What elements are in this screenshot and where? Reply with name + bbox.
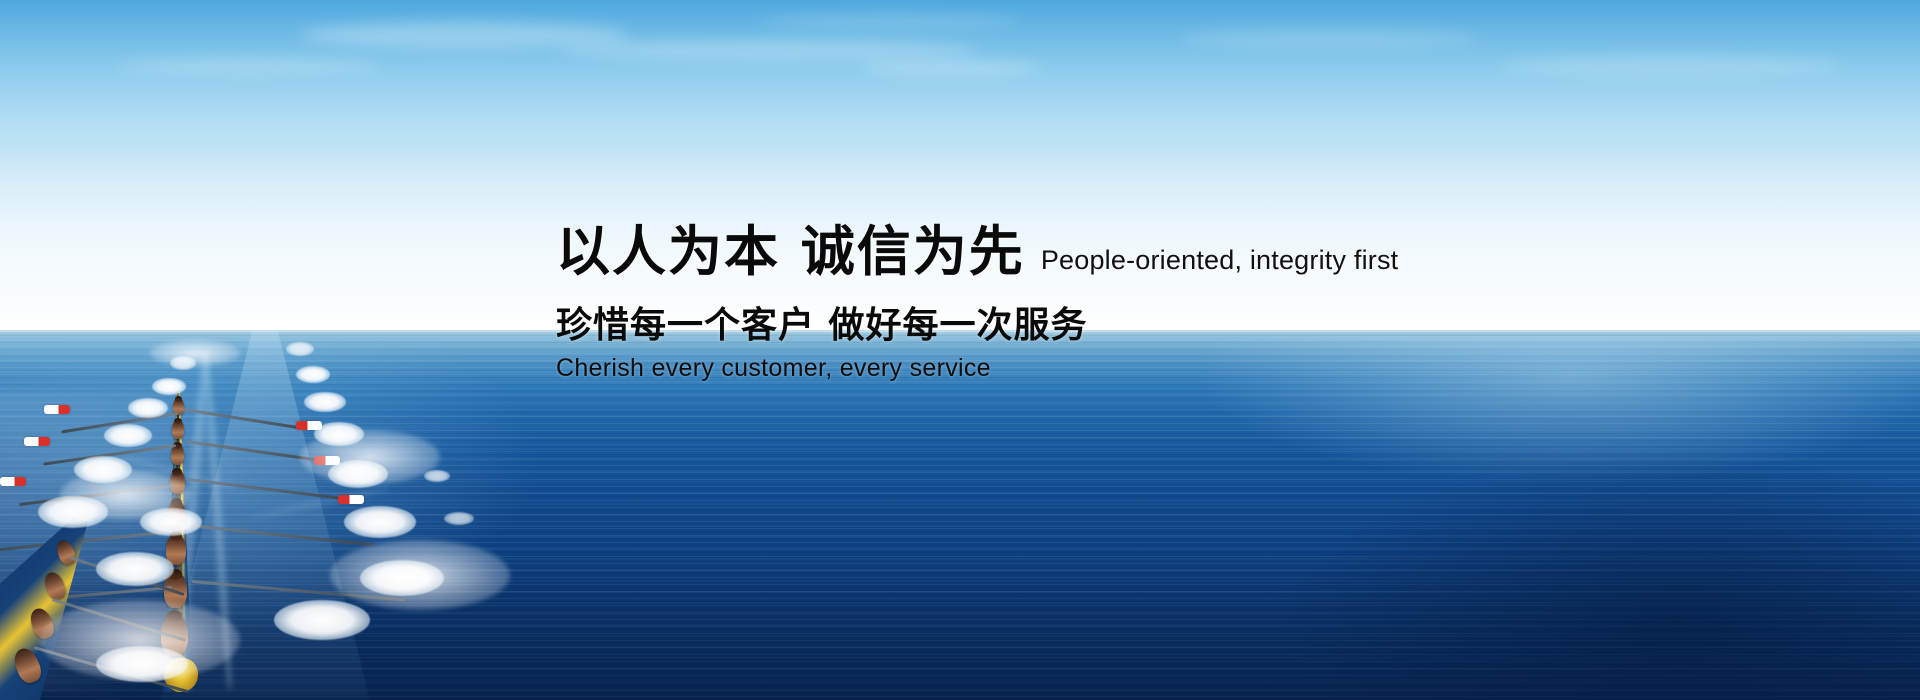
oar-blade-left (24, 437, 50, 446)
rower-head (174, 418, 182, 424)
splash (96, 552, 174, 586)
headline-chinese: 以人为本 诚信为先 (556, 222, 1025, 282)
oar-blade-left (0, 477, 26, 486)
foam-patch (330, 540, 510, 610)
splash (304, 392, 346, 412)
splash (152, 378, 186, 395)
subheadline-english: Cherish every customer, every service (556, 352, 1396, 384)
subheadline-chinese: 珍惜每一个客户 做好每一次服务 (556, 304, 1396, 348)
splash (444, 512, 474, 525)
slogan-block: 以人为本 诚信为先 People-oriented, integrity fir… (556, 222, 1396, 384)
splash (344, 506, 416, 538)
foam-patch (150, 340, 240, 366)
headline-english: People-oriented, integrity first (1041, 243, 1399, 277)
oar-blade-right (338, 495, 364, 504)
hero-banner: 以人为本 诚信为先 People-oriented, integrity fir… (0, 0, 1920, 700)
splash (286, 342, 314, 356)
rower-head (172, 468, 182, 476)
headline-row: 以人为本 诚信为先 People-oriented, integrity fir… (556, 222, 1396, 282)
splash (274, 600, 370, 640)
splash (128, 398, 168, 418)
foam-patch (300, 430, 440, 484)
splash (296, 366, 330, 383)
oar-blade-left (44, 405, 70, 414)
splash (104, 424, 152, 447)
foam-patch (60, 470, 190, 520)
rower-head (175, 396, 182, 402)
foam-patch (40, 600, 240, 680)
